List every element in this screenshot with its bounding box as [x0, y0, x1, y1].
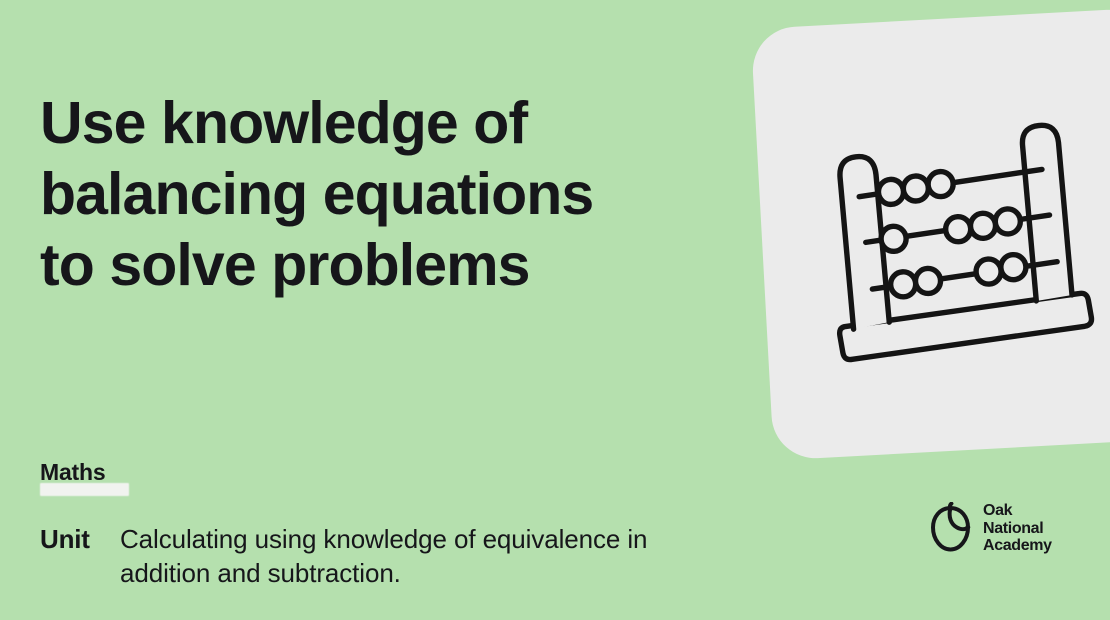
subject-underline — [40, 483, 129, 496]
subject-label: Maths — [40, 459, 105, 485]
subject-block: Maths — [40, 459, 105, 485]
unit-label: Unit — [40, 522, 120, 556]
acorn-icon — [928, 502, 972, 554]
logo-word-3: Academy — [983, 537, 1052, 555]
oak-national-academy-logo: Oak National Academy — [928, 502, 1052, 555]
logo-word-2: National — [983, 520, 1052, 538]
unit-value: Calculating using knowledge of equivalen… — [120, 522, 780, 590]
abacus-rail-1 — [858, 166, 1043, 206]
abacus-post-right — [1021, 124, 1072, 301]
unit-row: Unit Calculating using knowledge of equi… — [40, 522, 780, 590]
lesson-title-line-2: balancing equations — [40, 159, 700, 230]
lesson-title-line-3: to solve problems — [40, 230, 700, 301]
unit-value-line-2: addition and subtraction. — [120, 556, 780, 590]
logo-wordmark: Oak National Academy — [983, 502, 1052, 555]
lesson-title-slide: Use knowledge of balancing equations to … — [0, 0, 1110, 620]
lesson-title: Use knowledge of balancing equations to … — [40, 88, 700, 301]
abacus-illustration — [822, 117, 1103, 372]
unit-value-line-1: Calculating using knowledge of equivalen… — [120, 522, 780, 556]
abacus-rail-2 — [864, 207, 1051, 253]
lesson-title-line-1: Use knowledge of — [40, 88, 700, 159]
logo-word-1: Oak — [983, 502, 1052, 520]
